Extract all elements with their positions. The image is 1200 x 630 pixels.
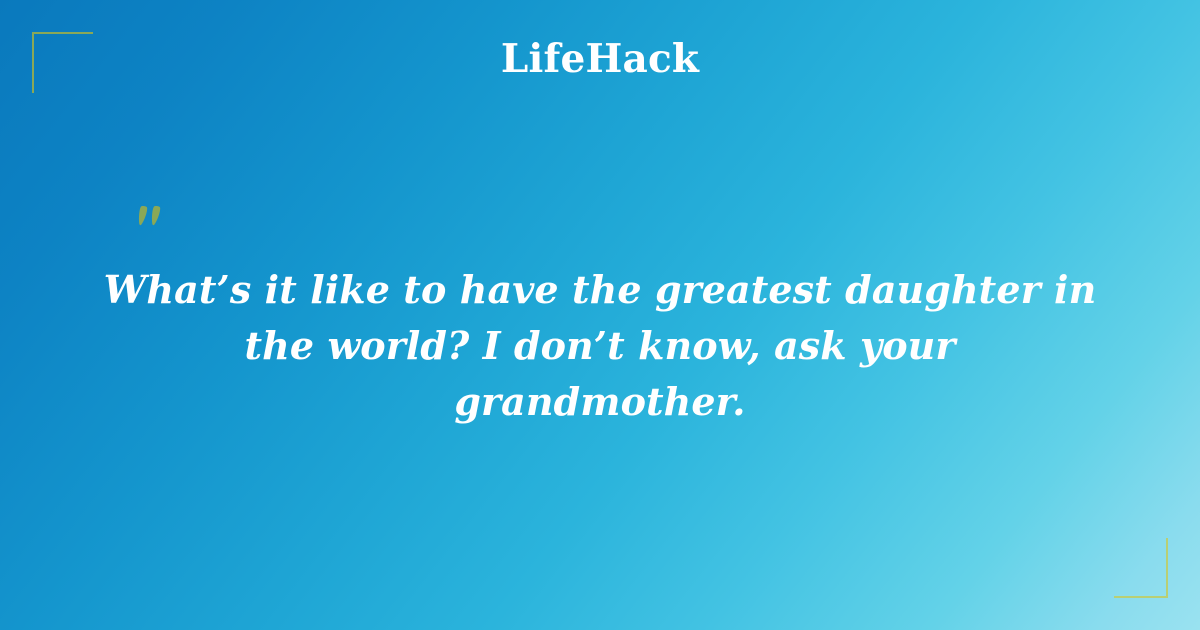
quote-card: LifeHack What’s it like to have the grea… (0, 0, 1200, 630)
quote-mark-icon (132, 188, 192, 248)
corner-bracket-bottom-right (1114, 538, 1168, 598)
brand-logo: LifeHack (0, 36, 1200, 82)
quote-text: What’s it like to have the greatest daug… (100, 262, 1100, 430)
quote-mark-glyph (132, 188, 192, 248)
